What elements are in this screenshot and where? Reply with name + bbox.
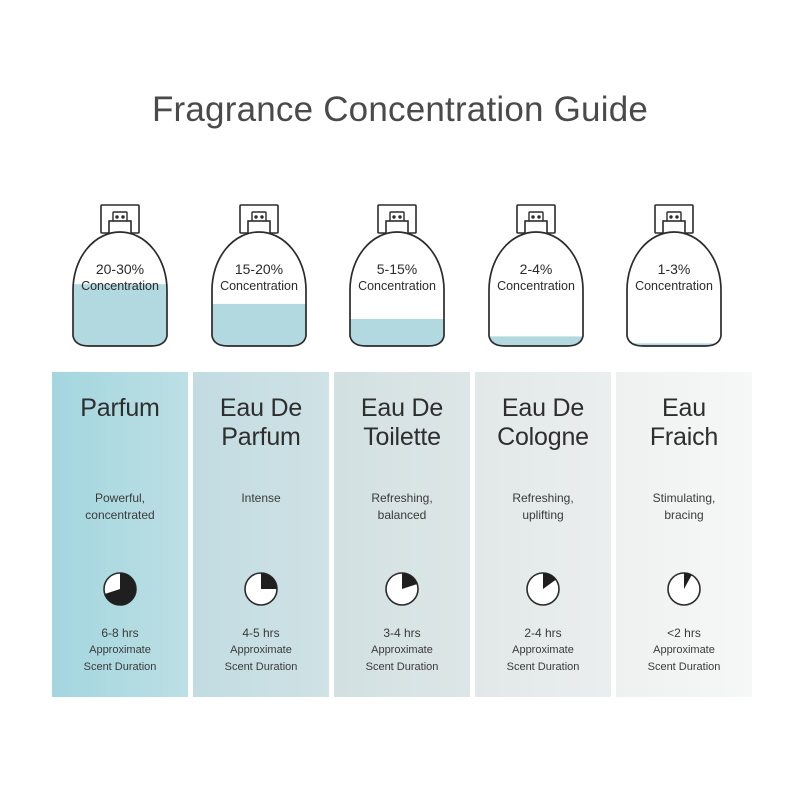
cap-dot-left-icon — [392, 215, 395, 218]
card-duration: 4-5 hrs Approximate Scent Duration — [193, 624, 329, 675]
bottle-concentration-label: Concentration — [497, 279, 575, 293]
card-duration: 3-4 hrs Approximate Scent Duration — [334, 624, 470, 675]
fragrance-card-2[interactable]: Eau De Parfum Intense 4-5 hrs Approximat… — [193, 372, 329, 697]
fragrance-cards-row: Parfum Powerful, concentrated 6-8 hrs Ap… — [52, 372, 752, 697]
bottle-concentration-value: 2-4% — [519, 261, 552, 277]
bottle-concentration-label: Concentration — [220, 279, 298, 293]
card-title: Eau De Parfum — [220, 394, 302, 452]
bottles-row: 20-30% Concentration — [0, 200, 800, 360]
card-description: Refreshing, balanced — [334, 490, 470, 525]
perfume-bottle-icon: 1-3% Concentration — [619, 200, 729, 355]
duration-subtitle: Approximate Scent Duration — [475, 642, 611, 675]
card-pie-icon-wrap — [334, 570, 470, 608]
card-description: Powerful, concentrated — [52, 490, 188, 525]
card-pie-icon-wrap — [193, 570, 329, 608]
bottle-concentration-value: 1-3% — [658, 261, 691, 277]
card-pie-icon-wrap — [616, 570, 752, 608]
bottle-liquid-fill — [65, 284, 175, 354]
bottle-concentration-value: 20-30% — [96, 261, 144, 277]
card-description: Refreshing, uplifting — [475, 490, 611, 525]
fragrance-card-4[interactable]: Eau De Cologne Refreshing, uplifting 2-4… — [475, 372, 611, 697]
perfume-bottle-icon: 15-20% Concentration — [204, 200, 314, 355]
duration-subtitle: Approximate Scent Duration — [616, 642, 752, 675]
perfume-bottle-icon: 20-30% Concentration — [65, 200, 175, 355]
card-title: Parfum — [80, 394, 159, 423]
bottle-3: 5-15% Concentration — [342, 200, 452, 355]
bottle-2: 15-20% Concentration — [204, 200, 314, 355]
fragrance-card-1[interactable]: Parfum Powerful, concentrated 6-8 hrs Ap… — [52, 372, 188, 697]
fragrance-card-3[interactable]: Eau De Toilette Refreshing, balanced 3-4… — [334, 372, 470, 697]
bottle-concentration-label: Concentration — [81, 279, 159, 293]
cap-dot-right-icon — [537, 215, 540, 218]
cap-dot-right-icon — [260, 215, 263, 218]
bottle-4: 2-4% Concentration — [481, 200, 591, 355]
fragrance-card-5[interactable]: Eau Fraich Stimulating, bracing <2 hrs A… — [616, 372, 752, 697]
cap-dot-right-icon — [398, 215, 401, 218]
duration-hours: 3-4 hrs — [334, 624, 470, 642]
cap-dot-left-icon — [669, 215, 672, 218]
card-duration: 2-4 hrs Approximate Scent Duration — [475, 624, 611, 675]
card-title: Eau De Cologne — [497, 394, 589, 452]
cap-dot-left-icon — [115, 215, 118, 218]
cap-dot-left-icon — [254, 215, 257, 218]
bottle-concentration-value: 15-20% — [234, 261, 282, 277]
duration-hours: 6-8 hrs — [52, 624, 188, 642]
card-pie-icon-wrap — [475, 570, 611, 608]
card-title: Eau De Toilette — [361, 394, 443, 452]
pie-clock-icon — [383, 570, 421, 608]
page-title: Fragrance Concentration Guide — [0, 90, 800, 130]
cap-dot-right-icon — [121, 215, 124, 218]
pie-clock-icon — [101, 570, 139, 608]
card-description: Stimulating, bracing — [616, 490, 752, 525]
cap-dot-left-icon — [531, 215, 534, 218]
duration-hours: <2 hrs — [616, 624, 752, 642]
card-description: Intense — [193, 490, 329, 507]
bottle-1: 20-30% Concentration — [65, 200, 175, 355]
card-pie-icon-wrap — [52, 570, 188, 608]
pie-clock-icon — [665, 570, 703, 608]
bottle-liquid-fill — [342, 319, 452, 354]
pie-wedge — [261, 573, 277, 589]
duration-hours: 4-5 hrs — [193, 624, 329, 642]
card-title: Eau Fraich — [650, 394, 718, 452]
perfume-bottle-icon: 2-4% Concentration — [481, 200, 591, 355]
bottle-concentration-label: Concentration — [635, 279, 713, 293]
cap-dot-right-icon — [675, 215, 678, 218]
card-duration: <2 hrs Approximate Scent Duration — [616, 624, 752, 675]
infographic-root: Fragrance Concentration Guide — [0, 0, 800, 800]
card-duration: 6-8 hrs Approximate Scent Duration — [52, 624, 188, 675]
duration-subtitle: Approximate Scent Duration — [193, 642, 329, 675]
perfume-bottle-icon: 5-15% Concentration — [342, 200, 452, 355]
pie-clock-icon — [524, 570, 562, 608]
duration-hours: 2-4 hrs — [475, 624, 611, 642]
duration-subtitle: Approximate Scent Duration — [52, 642, 188, 675]
bottle-concentration-value: 5-15% — [377, 261, 417, 277]
bottle-concentration-label: Concentration — [358, 279, 436, 293]
duration-subtitle: Approximate Scent Duration — [334, 642, 470, 675]
pie-clock-icon — [242, 570, 280, 608]
bottle-5: 1-3% Concentration — [619, 200, 729, 355]
